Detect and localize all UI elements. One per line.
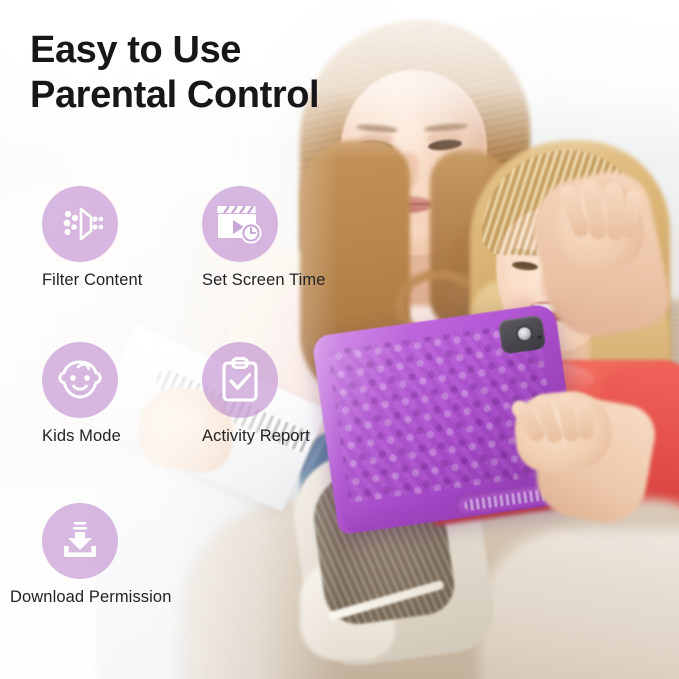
- feature-download-permission[interactable]: Download Permission: [42, 503, 202, 607]
- feature-icon-badge: [202, 342, 278, 418]
- clapperboard-clock-icon: [216, 202, 264, 246]
- feature-set-screen-time[interactable]: Set Screen Time: [202, 186, 362, 290]
- page-title: Easy to Use Parental Control: [30, 28, 360, 118]
- clipboard-check-icon: [218, 356, 262, 404]
- feature-activity-report[interactable]: Activity Report: [202, 342, 362, 446]
- feature-label: Filter Content: [42, 271, 202, 290]
- headline-line-2: Parental Control: [30, 73, 360, 118]
- feature-icon-badge: [42, 342, 118, 418]
- overlay-content: Easy to Use Parental Control F: [0, 0, 679, 679]
- feature-label: Kids Mode: [42, 427, 202, 446]
- filter-funnel-icon: [57, 201, 103, 247]
- download-tray-icon: [57, 519, 103, 563]
- feature-kids-mode[interactable]: Kids Mode: [42, 342, 202, 446]
- product-feature-image: Easy to Use Parental Control F: [0, 0, 679, 679]
- headline-line-1: Easy to Use: [30, 29, 241, 71]
- feature-icon-badge: [42, 503, 118, 579]
- feature-icon-badge: [202, 186, 278, 262]
- feature-filter-content[interactable]: Filter Content: [42, 186, 202, 290]
- feature-icon-badge: [42, 186, 118, 262]
- feature-label: Set Screen Time: [202, 271, 362, 290]
- feature-label: Activity Report: [202, 427, 362, 446]
- feature-label: Download Permission: [10, 588, 202, 607]
- baby-face-icon: [55, 357, 105, 403]
